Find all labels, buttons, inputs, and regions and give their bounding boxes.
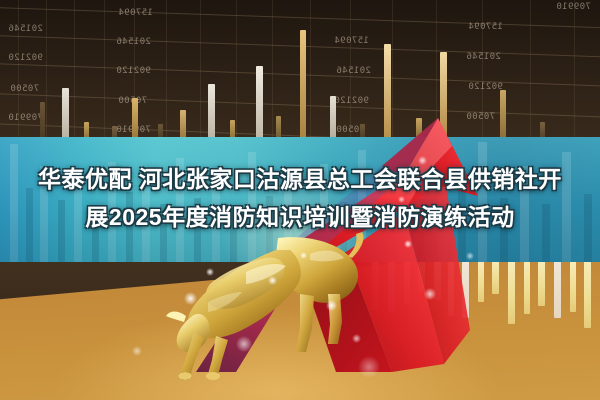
gridline <box>530 0 531 145</box>
banner-image: 201546 902120 70500 709910 157094 201546… <box>0 0 600 400</box>
price-label: 201546 <box>466 52 501 62</box>
price-label: 70500 <box>10 84 39 94</box>
gridline <box>18 0 19 145</box>
price-label: 201546 <box>336 66 371 76</box>
price-label: 902120 <box>468 82 503 92</box>
price-label: 902120 <box>116 66 151 76</box>
chart-bar <box>62 88 69 140</box>
chart-bar <box>500 90 506 140</box>
price-label: 157094 <box>334 36 369 46</box>
chart-bar <box>384 44 391 140</box>
chart-bar <box>180 110 186 140</box>
gridline <box>392 0 393 145</box>
price-label: 70500 <box>466 112 495 122</box>
chart-bar <box>256 66 263 140</box>
chart-bar <box>440 52 447 140</box>
chart-bar <box>40 102 45 140</box>
headline-line-1: 华泰优配 河北张家口沽源县总工会联合县供销社开 <box>0 160 600 198</box>
price-label: 709910 <box>556 2 591 12</box>
gridline <box>236 0 237 145</box>
gridline <box>46 0 47 145</box>
headline-line-2: 展2025年度消防知识培训暨消防演练活动 <box>0 198 600 236</box>
price-label: 709910 <box>8 113 43 123</box>
gridline <box>104 0 105 145</box>
gridline <box>310 0 311 145</box>
chart-bar <box>132 98 138 140</box>
headline-block: 华泰优配 河北张家口沽源县总工会联合县供销社开 展2025年度消防知识培训暨消防… <box>0 160 600 236</box>
gridline <box>272 0 273 145</box>
gridline <box>200 0 201 145</box>
price-label: 902120 <box>8 53 43 63</box>
price-label: 157094 <box>468 22 503 32</box>
price-label: 157094 <box>118 8 153 18</box>
gridline <box>166 0 167 145</box>
chart-bar <box>330 96 336 140</box>
gridline <box>0 6 600 29</box>
gridline <box>74 0 75 145</box>
gridline <box>436 0 437 145</box>
gridline <box>574 0 575 145</box>
chart-bar <box>208 84 215 140</box>
price-label: 902120 <box>334 96 369 106</box>
price-label: 201546 <box>116 37 151 47</box>
price-label: 201546 <box>8 24 43 34</box>
chart-bar <box>300 30 306 140</box>
